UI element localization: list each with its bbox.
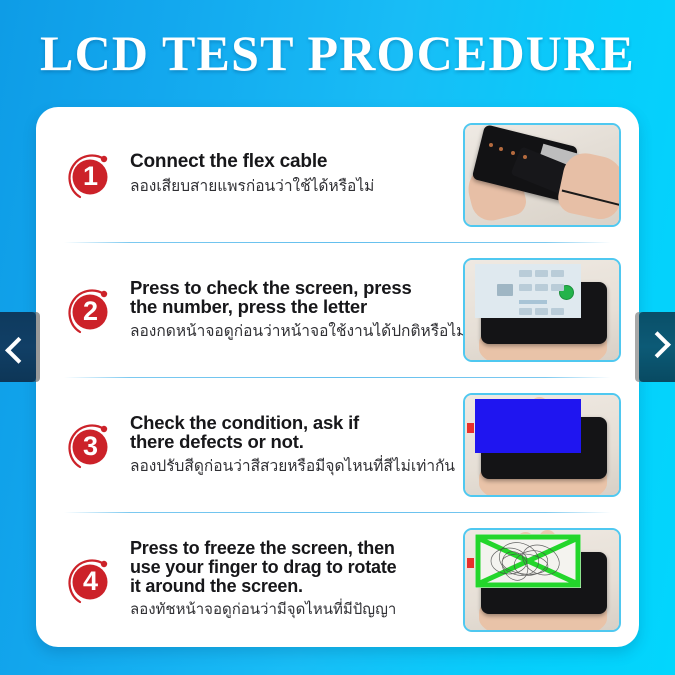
carousel-next-button[interactable] (639, 312, 675, 382)
page-title: LCD TEST PROCEDURE (0, 24, 675, 82)
photo-blue-screen-image (465, 395, 619, 495)
step-number-badge: 4 (60, 552, 116, 608)
step-text: Press to freeze the screen, then use you… (130, 539, 463, 620)
step-number-badge: 2 (60, 282, 116, 338)
step-photo (463, 528, 621, 632)
step-title-en: Press to check the screen, press the num… (130, 278, 455, 317)
list-item: 3 Check the condition, ask if there defe… (36, 377, 639, 512)
step-number: 1 (60, 147, 116, 203)
step-text: Press to check the screen, press the num… (130, 278, 463, 342)
step-title-th: ลองกดหน้าจอดูก่อนว่าหน้าจอใช้งานได้ปกติห… (130, 322, 455, 341)
step-number: 3 (60, 417, 116, 473)
chevron-left-icon (5, 336, 32, 363)
photo-dialer-image (465, 260, 619, 360)
row-separator (64, 377, 611, 378)
row-separator (64, 512, 611, 513)
list-item: 2 Press to check the screen, press the n… (36, 242, 639, 377)
step-title-en: Press to freeze the screen, then use you… (130, 539, 455, 596)
carousel-prev-button[interactable] (0, 312, 36, 382)
step-number-badge: 1 (60, 147, 116, 203)
step-number: 4 (60, 552, 116, 608)
photo-touch-test-image (465, 530, 619, 630)
step-photo (463, 258, 621, 362)
step-text: Connect the flex cable ลองเสียบสายแพรก่อ… (130, 152, 463, 197)
step-title-th: ลองเสียบสายแพรก่อนว่าใช้ได้หรือไม่ (130, 177, 455, 196)
step-title-th: ลองทัชหน้าจอดูก่อนว่ามีจุดไหนที่มีปัญญา (130, 601, 455, 620)
step-title-en: Connect the flex cable (130, 152, 455, 172)
step-number: 2 (60, 282, 116, 338)
step-text: Check the condition, ask if there defect… (130, 413, 463, 477)
steps-list: 1 Connect the flex cable ลองเสียบสายแพรก… (36, 107, 639, 647)
step-title-en: Check the condition, ask if there defect… (130, 413, 455, 452)
list-item: 1 Connect the flex cable ลองเสียบสายแพรก… (36, 107, 639, 242)
step-title-th: ลองปรับสีดูก่อนว่าสีสวยหรือมีจุดไหนที่สี… (130, 457, 455, 476)
photo-flex-cable-image (465, 125, 619, 225)
list-item: 4 Press to freeze the screen, then use y… (36, 512, 639, 647)
step-number-badge: 3 (60, 417, 116, 473)
step-photo (463, 123, 621, 227)
step-photo (463, 393, 621, 497)
row-separator (64, 242, 611, 243)
chevron-right-icon (644, 331, 671, 358)
procedure-card: 1 Connect the flex cable ลองเสียบสายแพรก… (36, 107, 639, 647)
